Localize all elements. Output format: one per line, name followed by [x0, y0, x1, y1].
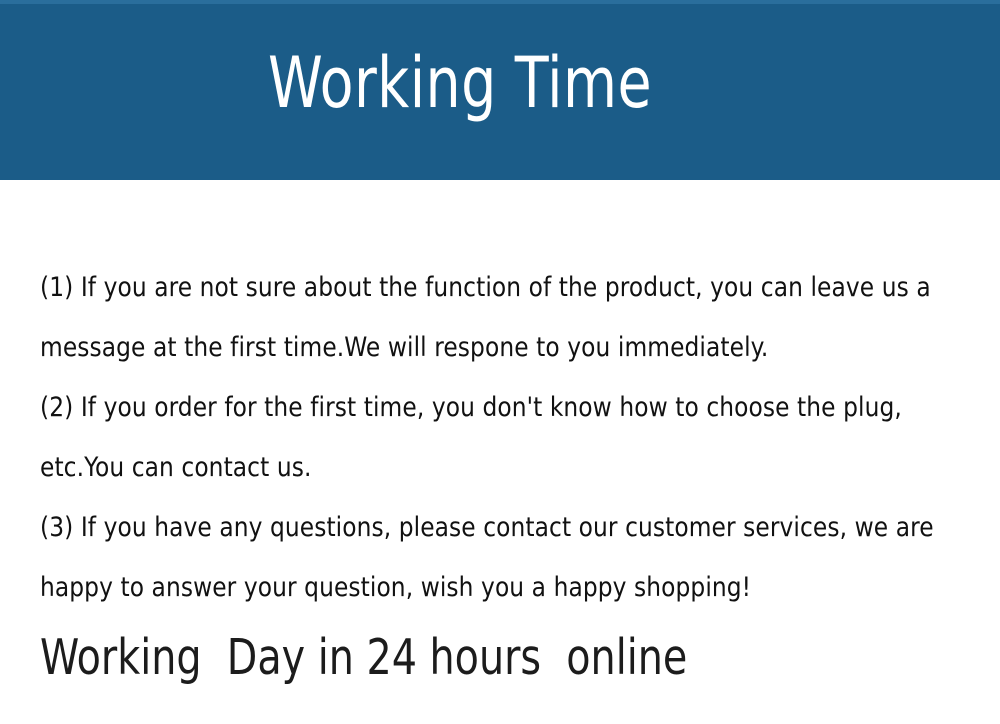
- working-time-banner-page: Working Time (1) If you are not sure abo…: [0, 0, 1000, 724]
- policy-line-6: happy to answer your question, wish you …: [40, 558, 933, 618]
- policy-line-2: message at the first time.We will respon…: [40, 318, 933, 378]
- policy-line-3: (2) If you order for the first time, you…: [40, 378, 933, 438]
- working-day-statement: Working Day in 24 hours online: [40, 628, 877, 688]
- policy-line-1: (1) If you are not sure about the functi…: [40, 258, 933, 318]
- policy-text-block: (1) If you are not sure about the functi…: [40, 196, 970, 688]
- policy-line-4: etc.You can contact us.: [40, 438, 933, 498]
- header-banner: Working Time: [0, 0, 1000, 180]
- policy-line-5: (3) If you have any questions, please co…: [40, 498, 933, 558]
- header-top-strip: [0, 0, 1000, 4]
- page-title: Working Time: [55, 40, 865, 126]
